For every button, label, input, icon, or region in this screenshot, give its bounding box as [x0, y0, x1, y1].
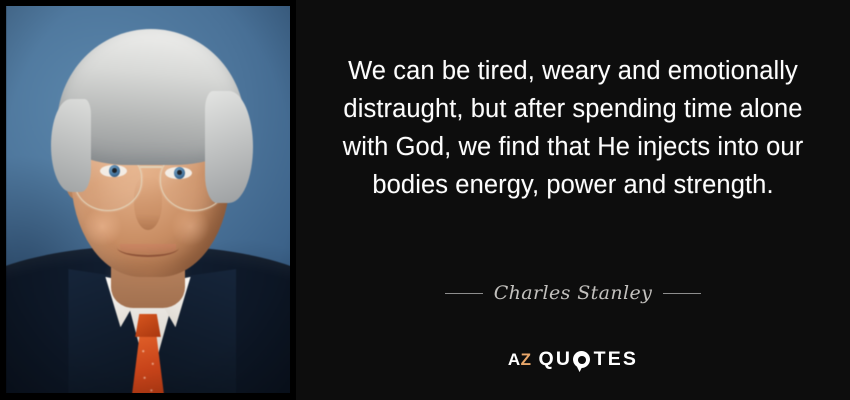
chin-shading	[105, 254, 190, 293]
quote-card: We can be tired, weary and emotionally d…	[0, 0, 850, 400]
attribution: Charles Stanley	[338, 282, 808, 304]
logo-quotes-suffix: TES	[594, 350, 639, 370]
logo-az-mark: AZ	[508, 351, 532, 368]
content-panel: We can be tired, weary and emotionally d…	[296, 0, 850, 400]
azquotes-logo[interactable]: AZ QU TES	[338, 350, 808, 370]
portrait-panel	[0, 0, 296, 400]
attribution-rule-left	[445, 293, 483, 294]
eyeglass-bridge	[140, 166, 161, 168]
logo-quotes-word: QU TES	[539, 350, 639, 370]
speech-bubble-o-icon	[573, 351, 590, 368]
quote-text: We can be tired, weary and emotionally d…	[338, 52, 808, 204]
author-name: Charles Stanley	[494, 282, 653, 304]
portrait-photo	[6, 6, 290, 393]
attribution-rule-right	[663, 293, 701, 294]
logo-letter-a: A	[508, 350, 521, 369]
logo-quotes-prefix: QU	[539, 350, 573, 370]
hair-side-left	[51, 99, 91, 192]
hair-side-right	[205, 91, 253, 203]
logo-letter-z: Z	[521, 350, 532, 369]
necktie-knot	[135, 314, 161, 337]
